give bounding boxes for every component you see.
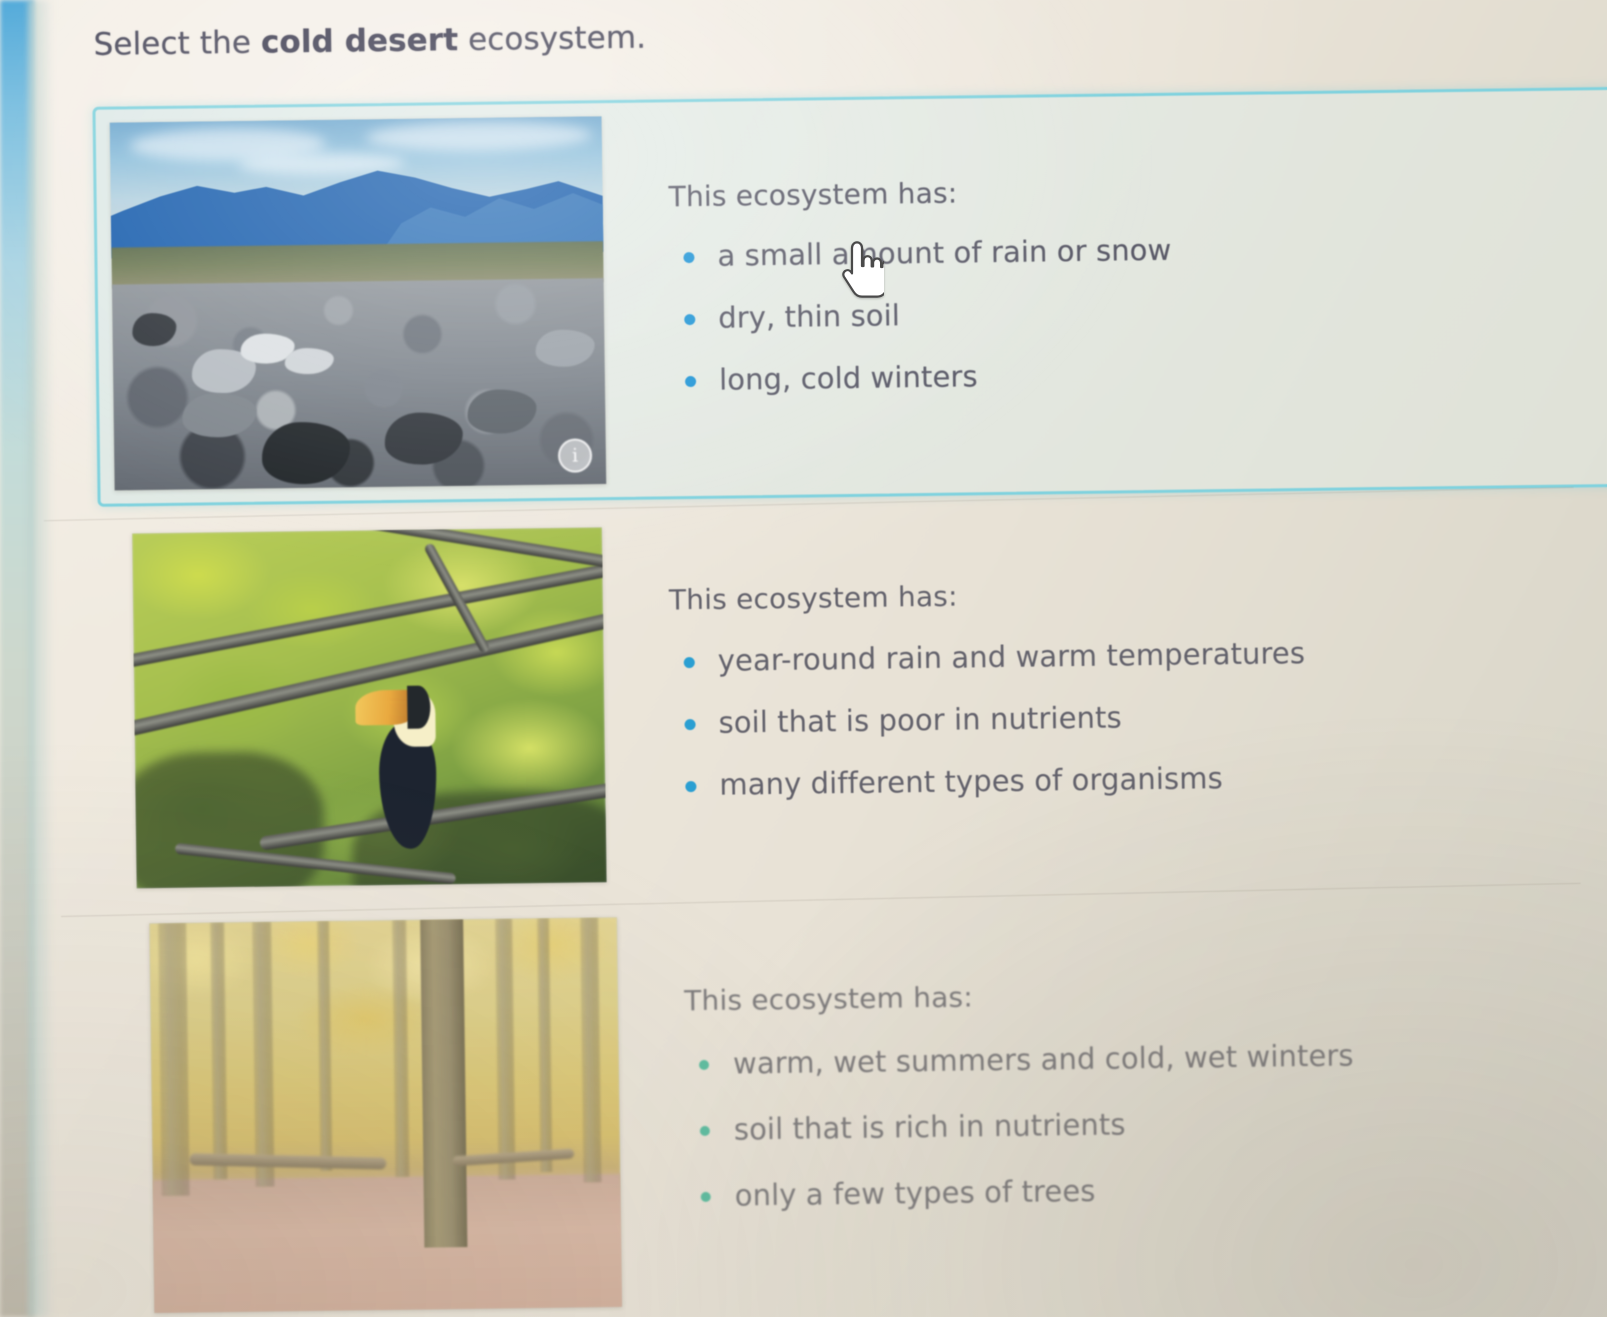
option-3-lead: This ecosystem has: <box>684 971 1607 1017</box>
option-2-lead: This ecosystem has: <box>669 570 1607 616</box>
tree-trunk <box>580 917 602 1182</box>
tree-trunk <box>495 918 515 1179</box>
list-item: year-round rain and warm temperatures <box>670 631 1607 678</box>
list-item: soil that is rich in nutrients <box>686 1100 1607 1147</box>
option-card-deciduous-forest[interactable]: This ecosystem has: warm, wet summers an… <box>129 898 1607 1317</box>
option-2-feature-list: year-round rain and warm temperatures so… <box>670 631 1607 802</box>
question-prefix: Select the <box>93 25 261 63</box>
list-item: soil that is poor in nutrients <box>670 693 1607 740</box>
screen-photo: Select the cold desert ecosystem. <box>0 0 1607 1317</box>
option-1-text: This ecosystem has: a small amount of ra… <box>602 161 1607 426</box>
list-item: dry, thin soil <box>670 288 1607 335</box>
page-title: Select the cold desert ecosystem. <box>93 20 646 63</box>
toucan-bill-tip <box>407 686 431 729</box>
question-suffix: ecosystem. <box>458 20 646 58</box>
option-3-feature-list: warm, wet summers and cold, wet winters … <box>685 1034 1607 1213</box>
list-item: only a few types of trees <box>687 1166 1607 1213</box>
pointing-hand-cursor <box>838 238 884 298</box>
list-item: many different types of organisms <box>671 755 1607 802</box>
quiz-screen: Select the cold desert ecosystem. <box>0 0 1607 1317</box>
deciduous-forest-image[interactable] <box>149 917 622 1313</box>
option-card-rainforest[interactable]: This ecosystem has: year-round rain and … <box>110 498 1607 903</box>
cold-desert-image[interactable]: i <box>110 116 607 490</box>
option-1-feature-list: a small amount of rain or snow dry, thin… <box>669 226 1607 397</box>
list-item: warm, wet summers and cold, wet winters <box>685 1034 1607 1081</box>
rocky-ground <box>112 278 607 491</box>
tree-trunk-foreground <box>421 919 467 1247</box>
list-item: long, cold winters <box>671 350 1607 397</box>
option-1-lead: This ecosystem has: <box>668 167 1607 213</box>
list-item: a small amount of rain or snow <box>669 226 1607 273</box>
screen-bezel-fade <box>28 0 54 1317</box>
question-emphasis: cold desert <box>261 22 459 61</box>
shadow <box>132 751 325 888</box>
option-2-text: This ecosystem has: year-round rain and … <box>603 564 1607 831</box>
forest-floor <box>153 1174 623 1313</box>
rainforest-image[interactable] <box>132 527 607 888</box>
tree-trunk <box>158 923 190 1196</box>
tree-trunk <box>252 922 274 1187</box>
option-3-text: This ecosystem has: warm, wet summers an… <box>618 965 1607 1246</box>
